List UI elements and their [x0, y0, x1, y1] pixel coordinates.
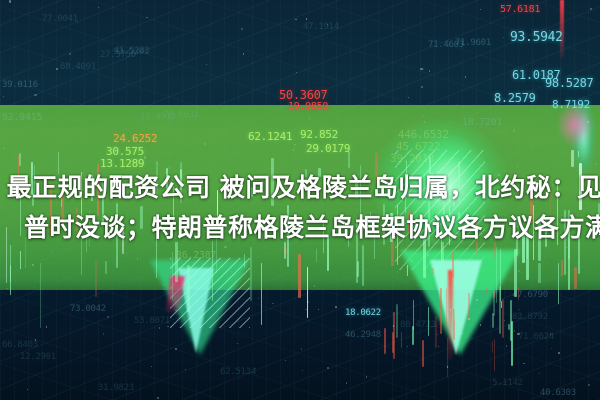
candlestick — [76, 207, 78, 235]
candlestick — [392, 332, 394, 354]
candlestick — [558, 263, 560, 304]
data-point-dot — [199, 210, 200, 211]
chart-red-candle-right — [448, 270, 453, 360]
candlestick — [31, 162, 33, 195]
candlestick — [384, 328, 386, 354]
candlestick — [102, 182, 104, 226]
data-point-dot — [573, 119, 574, 120]
chart-red-spike-top-right — [560, 0, 564, 58]
data-point-dot — [255, 368, 256, 369]
candlestick — [527, 220, 529, 259]
candlestick — [561, 260, 563, 277]
data-point-dot — [407, 346, 408, 347]
candlestick — [499, 286, 501, 334]
data-point-dot — [69, 53, 70, 54]
data-point-dot — [429, 70, 430, 71]
candlestick — [250, 247, 252, 302]
candlestick — [428, 201, 430, 247]
candlestick — [327, 235, 329, 271]
candlestick — [383, 204, 385, 245]
data-point-dot — [322, 92, 323, 93]
candlestick — [61, 192, 64, 223]
candlestick — [452, 251, 454, 278]
candlestick — [423, 239, 426, 277]
chart-volume-spike-right-inner — [430, 260, 482, 355]
candlestick — [19, 153, 21, 166]
candlestick — [348, 151, 350, 168]
data-point-dot — [175, 310, 176, 311]
data-point-dot — [295, 19, 296, 20]
candlestick — [20, 197, 22, 235]
data-point-dot — [468, 318, 469, 319]
candlestick — [6, 227, 8, 283]
data-point-dot — [427, 254, 428, 255]
candlestick — [545, 220, 547, 247]
candlestick — [287, 205, 289, 267]
data-point-dot — [306, 18, 307, 19]
candlestick — [502, 299, 504, 338]
candlestick — [598, 203, 600, 226]
data-point-dot — [305, 309, 306, 310]
candlestick — [397, 205, 399, 264]
candlestick — [476, 219, 478, 253]
candlestick — [538, 263, 541, 283]
chart-right-edge-pink-glow — [550, 95, 600, 155]
candlestick — [175, 242, 178, 282]
candlestick — [422, 340, 424, 367]
candlestick — [91, 175, 93, 201]
data-point-dot — [163, 284, 164, 285]
data-point-dot — [587, 121, 588, 122]
candlestick — [357, 261, 359, 277]
candlestick — [407, 265, 409, 276]
candlestick — [468, 293, 470, 320]
candlestick — [318, 168, 321, 177]
candlestick — [271, 158, 274, 206]
data-point-dot — [523, 363, 524, 364]
data-point-dot — [103, 333, 104, 334]
data-point-dot — [157, 397, 158, 398]
candlestick — [568, 210, 570, 260]
data-point-dot — [190, 318, 191, 319]
candlestick — [435, 316, 437, 349]
data-point-dot — [533, 145, 534, 146]
data-point-dot — [32, 264, 33, 265]
candlestick — [20, 251, 22, 270]
data-point-dot — [514, 330, 515, 331]
data-point-dot — [77, 119, 78, 120]
candlestick — [156, 161, 158, 195]
candlestick — [362, 245, 364, 286]
data-point-dot — [513, 129, 515, 131]
candlestick — [187, 265, 190, 312]
candlestick — [401, 332, 403, 349]
data-point-dot — [393, 325, 394, 326]
candlestick — [518, 287, 520, 300]
candlestick — [432, 268, 434, 274]
candlestick — [355, 180, 358, 198]
candlestick — [574, 267, 577, 289]
candlestick — [493, 291, 495, 298]
thumbnail-image: 93.594261.018798.52878.25798.719250.3607… — [0, 0, 600, 400]
data-point-dot — [144, 156, 146, 158]
candlestick — [458, 162, 460, 201]
candlestick — [458, 212, 460, 219]
candlestick — [105, 261, 107, 274]
data-point-dot — [159, 327, 160, 328]
data-point-dot — [539, 373, 540, 374]
candlestick — [95, 259, 97, 297]
candlestick — [516, 233, 518, 256]
data-point-dot — [551, 348, 552, 349]
candlestick — [412, 326, 414, 345]
candlestick — [494, 242, 496, 259]
candlestick — [483, 293, 485, 304]
data-point-dot — [346, 382, 347, 383]
data-point-dot — [34, 94, 36, 96]
data-point-dot — [450, 309, 451, 310]
data-point-dot — [517, 333, 519, 335]
candlestick — [516, 216, 519, 228]
data-point-dot — [318, 309, 319, 310]
data-point-dot — [404, 207, 405, 208]
candlestick — [578, 225, 580, 274]
data-point-dot — [461, 333, 462, 334]
candlestick — [14, 183, 16, 189]
data-point-dot — [461, 148, 462, 149]
data-point-dot — [595, 163, 596, 164]
candlestick — [443, 194, 445, 216]
data-point-dot — [480, 324, 481, 325]
candlestick — [514, 249, 517, 296]
candlestick — [166, 168, 168, 189]
candlestick — [396, 304, 398, 338]
candlestick — [579, 163, 582, 210]
data-point-dot — [421, 86, 422, 87]
data-point-dot — [258, 298, 259, 299]
candlestick — [486, 288, 488, 294]
candlestick — [510, 300, 512, 342]
data-point-dot — [46, 326, 47, 327]
data-point-dot — [224, 246, 226, 248]
candlestick — [180, 162, 182, 203]
candlestick — [390, 213, 393, 243]
data-point-dot — [588, 384, 589, 385]
candlestick — [408, 211, 411, 234]
candlestick — [375, 153, 378, 183]
data-point-dot — [160, 229, 161, 230]
candlestick — [97, 164, 99, 217]
candlestick — [58, 152, 60, 174]
candlestick — [453, 182, 455, 208]
data-point-dot — [518, 270, 519, 271]
data-point-dot — [151, 366, 152, 367]
candlestick — [212, 241, 214, 300]
data-point-dot — [293, 149, 294, 150]
candlestick — [122, 228, 124, 253]
data-point-dot — [241, 28, 242, 29]
candlestick — [494, 339, 496, 371]
candlestick — [522, 227, 525, 264]
data-point-dot — [465, 76, 466, 77]
candlestick — [10, 265, 12, 296]
data-point-dot — [293, 182, 295, 184]
candlestick — [391, 241, 394, 266]
data-point-dot — [9, 0, 11, 2]
candlestick — [116, 203, 118, 269]
candlestick — [251, 187, 253, 198]
candlestick — [156, 214, 158, 278]
data-point-dot — [558, 352, 559, 353]
candlestick — [571, 150, 574, 167]
candlestick — [284, 242, 286, 259]
candlestick — [305, 169, 307, 177]
data-point-dot — [488, 219, 489, 220]
data-point-dot — [327, 24, 328, 25]
candlestick — [363, 215, 365, 231]
candlestick — [50, 183, 52, 236]
candlestick — [492, 313, 494, 328]
candlestick — [447, 338, 449, 377]
candlestick — [431, 173, 434, 191]
data-point-dot — [366, 376, 367, 377]
data-point-dot — [307, 301, 308, 302]
data-point-dot — [3, 148, 4, 149]
candlestick — [298, 254, 301, 299]
candlestick — [428, 307, 430, 336]
candlestick — [564, 210, 566, 275]
candlestick — [140, 206, 143, 229]
candlestick — [440, 288, 442, 334]
data-point-dot — [590, 8, 591, 9]
data-point-dot — [554, 228, 555, 229]
candlestick — [538, 219, 541, 262]
data-point-dot — [272, 303, 273, 304]
data-point-dot — [301, 348, 302, 349]
data-point-dot — [6, 288, 7, 289]
data-point-dot — [497, 215, 498, 216]
data-point-dot — [77, 22, 78, 23]
candlestick — [25, 237, 27, 268]
